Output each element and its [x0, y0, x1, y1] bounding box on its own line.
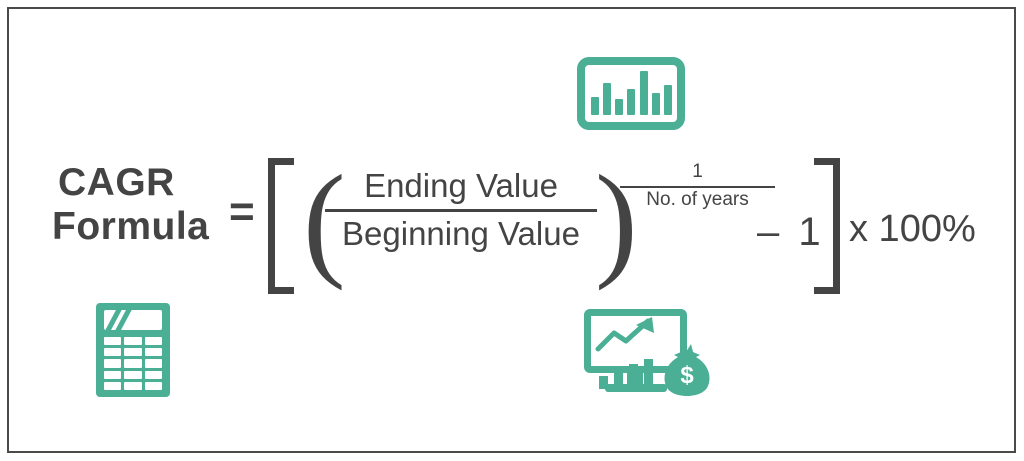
bar-chart-icon-bar-6: [652, 93, 660, 115]
multiplier-term: x 100%: [849, 210, 976, 248]
bar-chart-icon-bar-2: [603, 83, 611, 115]
monitor-icon-bar-4: [644, 359, 653, 389]
calculator-icon-key: [124, 371, 141, 379]
bar-chart-icon: [577, 57, 685, 130]
calculator-icon-key: [124, 359, 141, 367]
calculator-icon-key: [145, 382, 162, 390]
bar-chart-icon-bar-3: [615, 99, 623, 115]
monitor-icon-bar-3: [629, 364, 638, 389]
calculator-icon-key: [124, 348, 141, 356]
bar-chart-icon-bars: [591, 71, 672, 115]
equals-sign: =: [229, 190, 255, 234]
fraction-bar: [325, 209, 597, 212]
exponent-denominator: No. of years: [620, 190, 775, 211]
calculator-icon-key: [145, 337, 162, 345]
calculator-icon-key: [145, 371, 162, 379]
calculator-icon-key: [145, 348, 162, 356]
monitor-icon-bar-1: [599, 376, 608, 389]
calculator-icon-key: [124, 382, 141, 390]
exponent-fraction-bar: [620, 186, 775, 188]
fraction-denominator: Beginning Value: [325, 215, 597, 253]
calculator-icon-key: [145, 359, 162, 367]
screenshot-canvas: CAGR Formula = ( ) Ending Value Beginnin…: [0, 0, 1024, 461]
monitor-icon-bars: [599, 359, 665, 389]
calculator-icon-keypad: [104, 337, 162, 390]
exponent-fraction: 1 No. of years: [620, 162, 775, 211]
calculator-icon-display: [104, 310, 162, 330]
cagr-formula: CAGR Formula = ( ) Ending Value Beginnin…: [0, 150, 1024, 310]
calculator-icon-key: [124, 337, 141, 345]
calculator-icon: [96, 303, 170, 397]
minus-one-term: – 1: [757, 212, 825, 252]
money-bag-dollar-symbol: $: [660, 364, 714, 388]
calculator-icon-key: [104, 371, 121, 379]
calculator-icon-key: [104, 337, 121, 345]
calculator-icon-key: [104, 359, 121, 367]
main-fraction: Ending Value Beginning Value: [325, 167, 597, 252]
bar-chart-icon-bar-1: [591, 97, 599, 115]
bracket-open: [268, 158, 294, 294]
formula-label-line2: Formula: [52, 207, 209, 246]
calculator-icon-key: [104, 348, 121, 356]
monitor-icon-bar-2: [614, 369, 623, 389]
exponent-numerator: 1: [620, 162, 775, 183]
bar-chart-icon-bar-7: [664, 85, 672, 115]
monitor-growth-chart-icon: $: [584, 309, 714, 397]
fraction-numerator: Ending Value: [325, 167, 597, 205]
calculator-icon-key: [104, 382, 121, 390]
formula-label-line1: CAGR: [58, 163, 175, 202]
bar-chart-icon-bar-4: [627, 89, 635, 115]
bar-chart-icon-bar-5: [640, 71, 648, 115]
